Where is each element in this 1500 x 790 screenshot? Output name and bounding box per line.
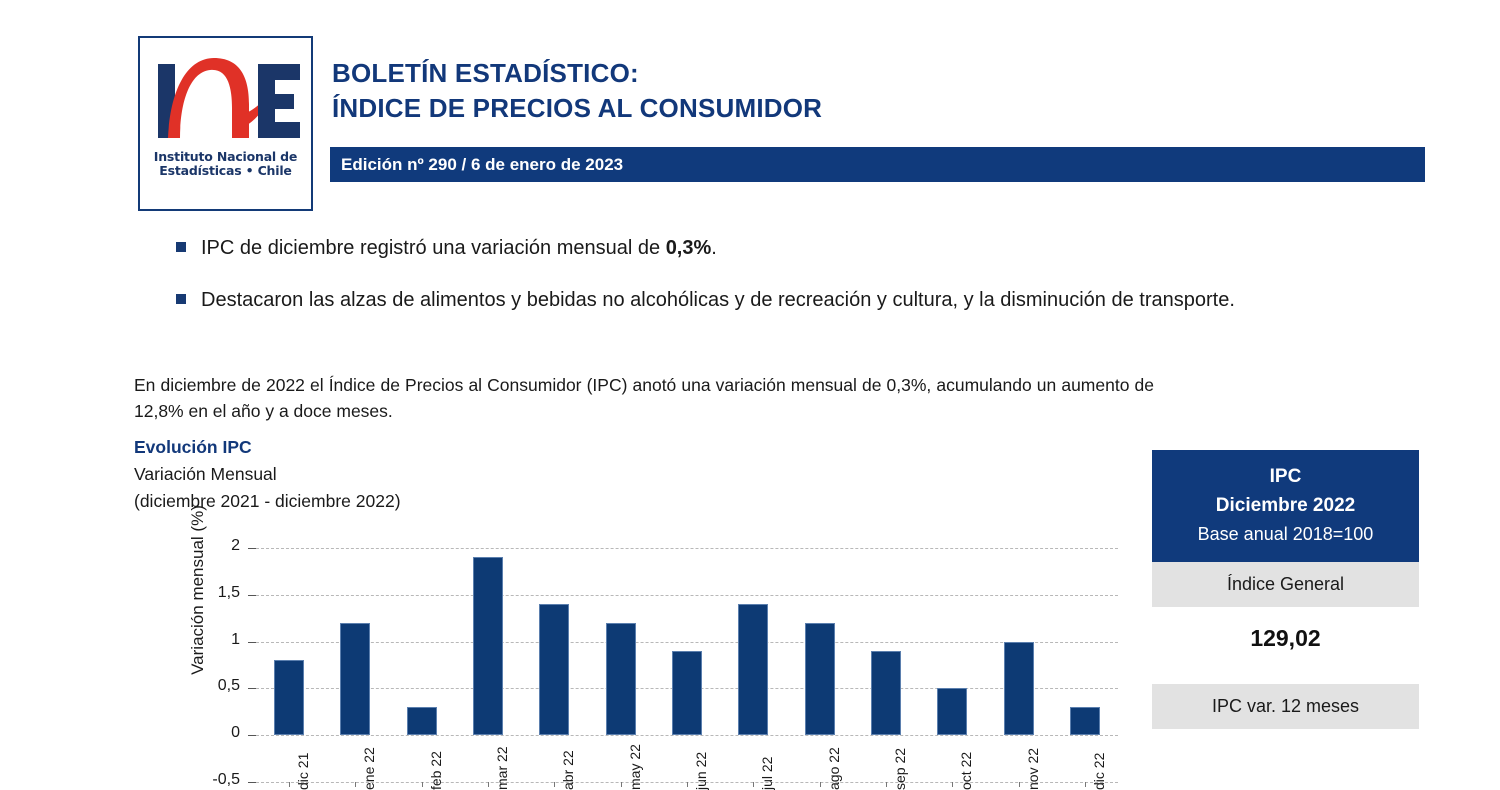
chart-gridline — [256, 642, 1118, 643]
ine-logo-caption: Instituto Nacional de Estadísticas • Chi… — [140, 150, 311, 178]
chart-subtitle-2: (diciembre 2021 - diciembre 2022) — [134, 491, 401, 512]
summary-card-base: Base anual 2018=100 — [1158, 520, 1413, 549]
chart-y-tick-mark — [248, 735, 256, 736]
chart-bar — [473, 557, 503, 735]
chart-x-tick-label: abr 22 — [560, 750, 576, 790]
bullet-text-2: Destacaron las alzas de alimentos y bebi… — [201, 285, 1235, 315]
chart-y-tick-mark — [248, 595, 256, 596]
chart-bar — [937, 688, 967, 735]
chart-bar — [274, 660, 304, 735]
summary-row-label-var12: IPC var. 12 meses — [1152, 684, 1419, 729]
chart-bar — [407, 707, 437, 735]
chart-subtitle-1: Variación Mensual — [134, 464, 277, 485]
bullet-square-icon — [176, 294, 186, 304]
chart-y-tick-label: 1,5 — [180, 584, 240, 602]
page-header: Instituto Nacional de Estadísticas • Chi… — [0, 0, 1500, 215]
chart-x-tick-label: may 22 — [627, 744, 643, 790]
bullet-square-icon — [176, 242, 186, 252]
chart-x-tick-label: ene 22 — [361, 747, 377, 790]
bulletin-title: BOLETÍN ESTADÍSTICO: ÍNDICE DE PRECIOS A… — [332, 56, 1432, 126]
chart-x-tick-label: jun 22 — [693, 752, 709, 790]
ipc-monthly-bar-chart: Variación mensual (%) 21,510,50-0,5dic 2… — [160, 530, 1140, 785]
chart-y-tick-mark — [248, 548, 256, 549]
chart-gridline — [256, 548, 1118, 549]
chart-bar — [606, 623, 636, 735]
list-item: Destacaron las alzas de alimentos y bebi… — [176, 285, 1416, 315]
chart-bar — [1004, 642, 1034, 736]
summary-card-title: IPC — [1158, 462, 1413, 491]
chart-y-tick-label: 1 — [180, 631, 240, 649]
chart-x-tick-label: dic 22 — [1091, 753, 1107, 790]
chart-y-tick-mark — [248, 688, 256, 689]
summary-row-value-general: 129,02 — [1152, 607, 1419, 672]
chart-x-tick-label: sep 22 — [892, 748, 908, 790]
chart-x-tick-label: ago 22 — [826, 747, 842, 790]
chart-heading: Evolución IPC — [134, 437, 252, 458]
title-line-1: BOLETÍN ESTADÍSTICO: — [332, 56, 1432, 91]
summary-card-period: Diciembre 2022 — [1158, 491, 1413, 520]
highlights-list: IPC de diciembre registró una variación … — [176, 233, 1416, 337]
edition-banner: Edición nº 290 / 6 de enero de 2023 — [330, 147, 1425, 182]
bullet-text-1: IPC de diciembre registró una variación … — [201, 233, 717, 263]
edition-label: Edición nº 290 / 6 de enero de 2023 — [330, 147, 1425, 182]
summary-row-label-general: Índice General — [1152, 562, 1419, 607]
summary-card-gap — [1152, 672, 1419, 684]
chart-y-tick-mark — [248, 782, 256, 783]
chart-bar — [1070, 707, 1100, 735]
chart-y-tick-mark — [248, 642, 256, 643]
chart-y-tick-label: 0,5 — [180, 677, 240, 695]
title-line-2: ÍNDICE DE PRECIOS AL CONSUMIDOR — [332, 91, 1432, 126]
chart-bar — [340, 623, 370, 735]
chart-bar — [672, 651, 702, 735]
chart-bar — [738, 604, 768, 735]
logo-caption-line1: Instituto Nacional de — [140, 150, 311, 164]
chart-x-tick-label: feb 22 — [428, 751, 444, 790]
chart-x-tick-label: dic 21 — [295, 753, 311, 790]
ipc-summary-card: IPC Diciembre 2022 Base anual 2018=100 Í… — [1152, 450, 1419, 729]
chart-x-tick-label: oct 22 — [958, 752, 974, 790]
ine-logomark-icon — [140, 58, 311, 150]
chart-y-tick-label: 2 — [180, 537, 240, 555]
chart-x-tick-label: mar 22 — [494, 746, 510, 790]
chart-bar — [805, 623, 835, 735]
summary-card-header: IPC Diciembre 2022 Base anual 2018=100 — [1152, 450, 1419, 562]
intro-paragraph: En diciembre de 2022 el Índice de Precio… — [134, 372, 1154, 424]
logo-caption-line2: Estadísticas • Chile — [140, 164, 311, 178]
ine-logo: Instituto Nacional de Estadísticas • Chi… — [138, 36, 313, 211]
list-item: IPC de diciembre registró una variación … — [176, 233, 1416, 263]
chart-gridline — [256, 595, 1118, 596]
chart-plot-area: 21,510,50-0,5dic 21ene 22feb 22mar 22abr… — [256, 548, 1118, 782]
chart-y-tick-label: -0,5 — [180, 771, 240, 789]
chart-bar — [871, 651, 901, 735]
chart-gridline — [256, 735, 1118, 736]
chart-x-tick-label: nov 22 — [1025, 748, 1041, 790]
chart-y-tick-label: 0 — [180, 724, 240, 742]
chart-bar — [539, 604, 569, 735]
